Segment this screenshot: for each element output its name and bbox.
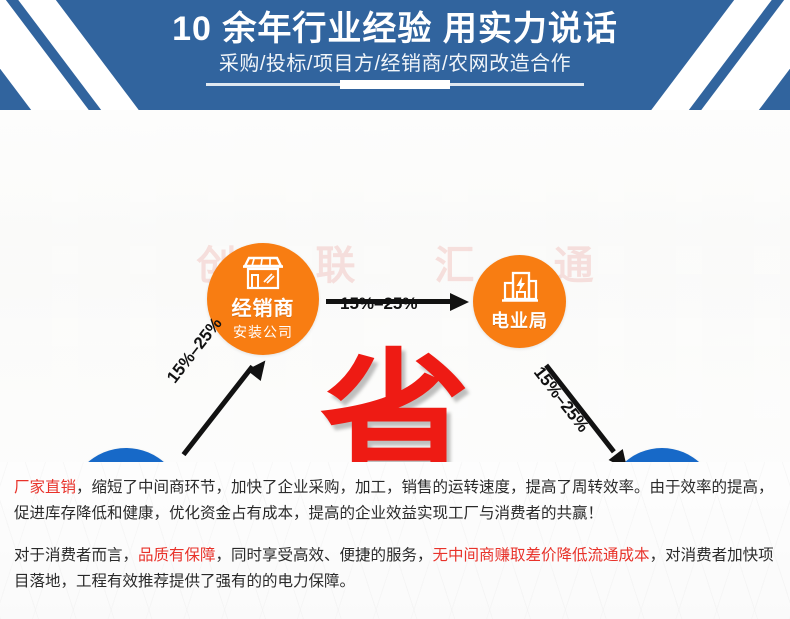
power-building-icon xyxy=(499,270,541,304)
shop-icon xyxy=(241,256,285,290)
flow-diagram: 创 联 汇 通 省 经销商 安装公司 xyxy=(0,110,790,462)
footer-paragraph-2-part1: 对于消费者而言， xyxy=(14,547,138,564)
node-power-bureau[interactable]: 电业局 xyxy=(473,255,566,348)
footer-paragraph-2-part2: ，同时享受高效、便捷的服务， xyxy=(216,547,433,564)
footer-description: 厂家直销，缩短了中间商环节，加快了企业采购，加工，销售的运转速度，提高了周转效率… xyxy=(0,462,790,619)
banner-divider xyxy=(206,83,584,86)
footer-highlight-direct-sale: 厂家直销 xyxy=(14,479,76,496)
brand-watermark: 创 联 汇 通 xyxy=(0,233,790,291)
arrow-line xyxy=(182,365,255,456)
node-power-bureau-label: 电业局 xyxy=(491,307,548,333)
banner-subtitle: 采购/投标/项目方/经销商/农网改造合作 xyxy=(219,51,571,77)
arrow-head xyxy=(450,293,469,311)
node-dealer-label: 经销商 xyxy=(232,292,295,321)
arrow-label-dealer-to-bureau: 15%–25% xyxy=(340,294,418,314)
header-banner: 10 余年行业经验 用实力说话 采购/投标/项目方/经销商/农网改造合作 xyxy=(0,0,790,110)
node-dealer-sublabel: 安装公司 xyxy=(233,322,293,342)
banner-content: 10 余年行业经验 用实力说话 采购/投标/项目方/经销商/农网改造合作 xyxy=(0,0,790,86)
footer-highlight-quality: 品质有保障 xyxy=(138,547,216,564)
footer-paragraph-1: 厂家直销，缩短了中间商环节，加快了企业采购，加工，销售的运转速度，提高了周转效率… xyxy=(14,475,776,527)
footer-paragraph-2: 对于消费者而言，品质有保障，同时享受高效、便捷的服务，无中间商赚取差价降低流通成… xyxy=(14,543,776,595)
arrow-head xyxy=(247,355,273,381)
node-dealer[interactable]: 经销商 安装公司 xyxy=(207,243,319,355)
banner-title: 10 余年行业经验 用实力说话 xyxy=(172,9,618,49)
save-character: 省 xyxy=(0,347,790,462)
footer-paragraph-1-text: ，缩短了中间商环节，加快了企业采购，加工，销售的运转速度，提高了周转效率。由于效… xyxy=(14,479,774,522)
footer-highlight-no-middleman: 无中间商赚取差价降低流通成本 xyxy=(433,547,650,564)
